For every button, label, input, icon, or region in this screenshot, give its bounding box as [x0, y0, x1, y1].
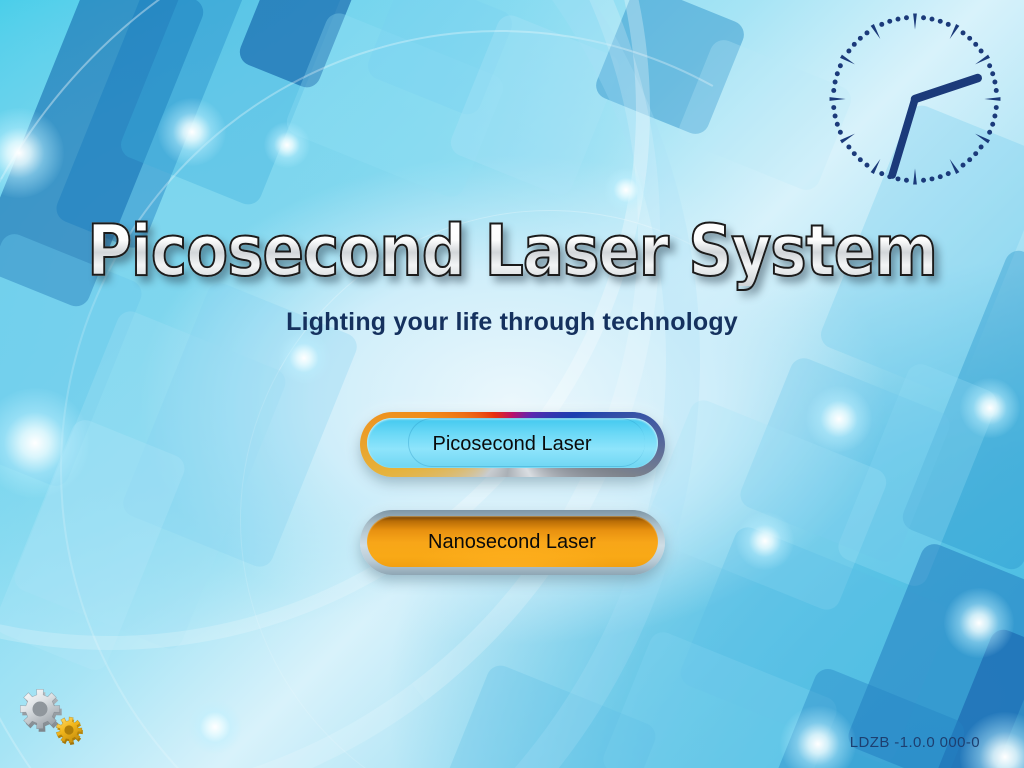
mode-button-group: Picosecond Laser Nanosecond Laser [360, 412, 665, 575]
nanosecond-laser-button-label: Nanosecond Laser [428, 531, 596, 554]
version-label: LDZB -1.0.0 000-0 [850, 734, 980, 751]
content-area: Picosecond Laser System Lighting your li… [0, 0, 1024, 768]
nanosecond-laser-button[interactable]: Nanosecond Laser [360, 510, 665, 575]
page-title: Picosecond Laser System [87, 216, 937, 286]
picosecond-laser-button-label: Picosecond Laser [433, 433, 592, 456]
page-subtitle: Lighting your life through technology [286, 308, 738, 337]
picosecond-laser-button[interactable]: Picosecond Laser [360, 412, 665, 477]
splash-screen: Picosecond Laser System Lighting your li… [0, 0, 1024, 768]
